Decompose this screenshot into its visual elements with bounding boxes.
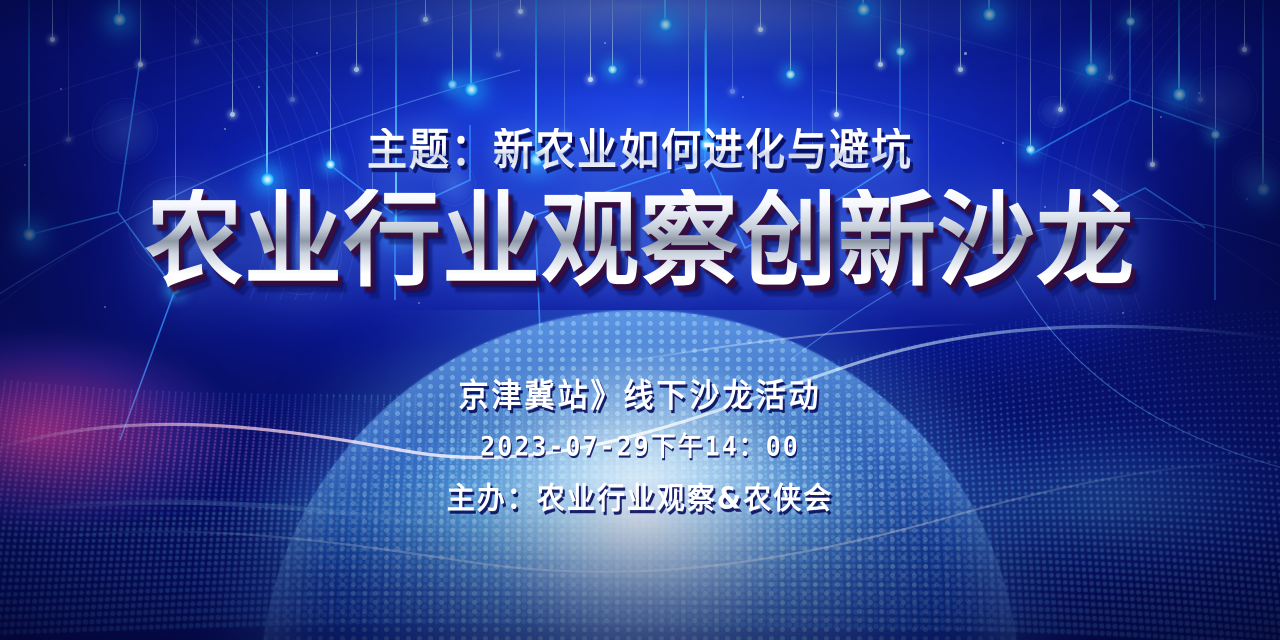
main-title: 农业行业观察创新沙龙 [145, 189, 1135, 293]
subject-line: 主题：新农业如何进化与避坑 [367, 128, 913, 172]
host-line: 主办：农业行业观察&农侠会 [447, 484, 833, 514]
station-line: 京津冀站》线下沙龙活动 [459, 380, 822, 412]
poster-text-block: 主题：新农业如何进化与避坑 农业行业观察创新沙龙 京津冀站》线下沙龙活动 202… [0, 0, 1280, 640]
event-poster: 主题：新农业如何进化与避坑 农业行业观察创新沙龙 京津冀站》线下沙龙活动 202… [0, 0, 1280, 640]
datetime-line: 2023-07-29下午14：00 [480, 433, 800, 460]
